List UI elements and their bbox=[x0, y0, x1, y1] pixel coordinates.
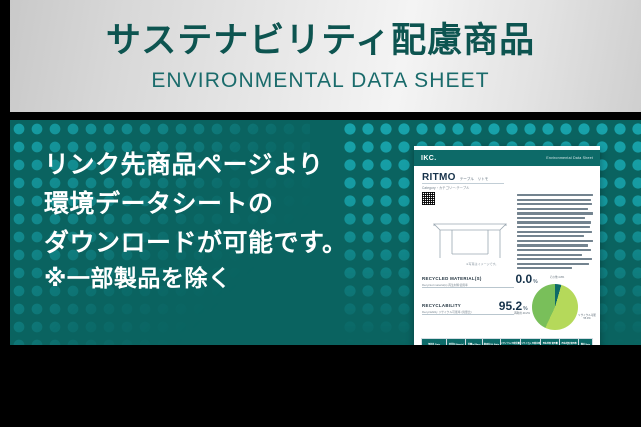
stat-recycled-unit: % bbox=[533, 279, 537, 285]
table-col-3: 構成比(%) Ratio bbox=[483, 339, 500, 346]
table-col-8: 備考 Note bbox=[579, 339, 593, 346]
materials-table: 部材名 Parts 材質名 Material 質量(g) Mass 構成比(%)… bbox=[421, 338, 593, 345]
stat-recyclability-label: RECYCLABILITY bbox=[422, 303, 472, 308]
document-description-text bbox=[517, 194, 593, 272]
stat-recycled-number: 0.0 bbox=[515, 272, 532, 286]
document-body: RITMO テーブル リトモ Category・カテゴリー:テーブル bbox=[414, 166, 600, 345]
recyclability-pie-chart bbox=[532, 284, 578, 330]
banner-body-panel: リンク先商品ページより 環境データシートの ダウンロードが可能です。 ※一部製品… bbox=[10, 120, 641, 345]
table-col-0: 部材名 Parts bbox=[422, 339, 447, 346]
product-line-drawing bbox=[430, 214, 510, 260]
table-col-6: 再生材料 使用量 Recycled bbox=[541, 339, 560, 346]
stat-recycled-value: 0.0% bbox=[515, 272, 537, 286]
stat-recyclability-underline bbox=[422, 314, 514, 315]
banner-header-inner: サステナビリティ配慮商品 ENVIRONMENTAL DATA SHEET bbox=[10, 0, 631, 112]
stat-recyclability: RECYCLABILITY Recyclability リサイクル可能率 (質量… bbox=[422, 303, 472, 314]
stat-recycled-underline bbox=[422, 287, 514, 288]
stat-recycled-materials: RECYCLED MATERIAL(S) Recycled material(s… bbox=[422, 276, 482, 287]
title-divider bbox=[422, 183, 504, 184]
table-col-7: 再生材料 使用率 Rate bbox=[560, 339, 579, 346]
brand-logo: IKC. bbox=[421, 155, 437, 162]
banner-header: サステナビリティ配慮商品 ENVIRONMENTAL DATA SHEET bbox=[10, 0, 641, 112]
document-product-title-row: RITMO テーブル リトモ bbox=[422, 172, 488, 183]
product-meta: Category・カテゴリー:テーブル bbox=[422, 185, 469, 190]
panel-description: リンク先商品ページより 環境データシートの ダウンロードが可能です。 ※一部製品… bbox=[44, 146, 384, 298]
table-header-row: 部材名 Parts 材質名 Material 質量(g) Mass 構成比(%)… bbox=[422, 339, 593, 346]
pie-label-top: その他 4.8% bbox=[546, 276, 568, 279]
pie-label-right: リサイクル可能 55.0% bbox=[577, 314, 597, 320]
table-col-5: リサイクル 可能比率 Rate bbox=[520, 339, 540, 346]
table-col-4: リサイクル 可能質量 Recyclable bbox=[500, 339, 520, 346]
panel-line-3: ダウンロードが可能です。 bbox=[44, 224, 384, 263]
panel-line-1: リンク先商品ページより bbox=[44, 146, 384, 185]
panel-line-2: 環境データシートの bbox=[44, 185, 384, 224]
qr-code-icon bbox=[422, 192, 435, 205]
table-col-1: 材質名 Material bbox=[447, 339, 466, 346]
materials-table-head: 部材名 Parts 材質名 Material 質量(g) Mass 構成比(%)… bbox=[422, 339, 593, 346]
stat-recyclability-value: 95.2% bbox=[499, 299, 528, 313]
product-image-caption: ※写真はイメージです。 bbox=[466, 262, 498, 266]
materials-data-table: 部材名 Parts 材質名 Material 質量(g) Mass 構成比(%)… bbox=[421, 338, 593, 345]
table-col-2: 質量(g) Mass bbox=[466, 339, 483, 346]
pie-label-left: 再利用 40.2% bbox=[513, 312, 531, 315]
document-header-label: Environmental Data Sheet bbox=[546, 156, 593, 160]
page-title-ja: サステナビリティ配慮商品 bbox=[106, 23, 535, 60]
document-preview-thumbnail[interactable]: IKC. Environmental Data Sheet RITMO テーブル… bbox=[414, 146, 600, 345]
stat-recycled-label: RECYCLED MATERIAL(S) bbox=[422, 276, 482, 281]
environmental-data-sheet-banner: サステナビリティ配慮商品 ENVIRONMENTAL DATA SHEET リン… bbox=[0, 0, 641, 427]
document-header-bar: IKC. Environmental Data Sheet bbox=[414, 150, 600, 166]
stat-recyclability-number: 95.2 bbox=[499, 299, 522, 313]
page-title-en: ENVIRONMENTAL DATA SHEET bbox=[151, 69, 489, 93]
panel-line-note: ※一部製品を除く bbox=[44, 262, 384, 298]
product-name: RITMO bbox=[422, 172, 456, 183]
